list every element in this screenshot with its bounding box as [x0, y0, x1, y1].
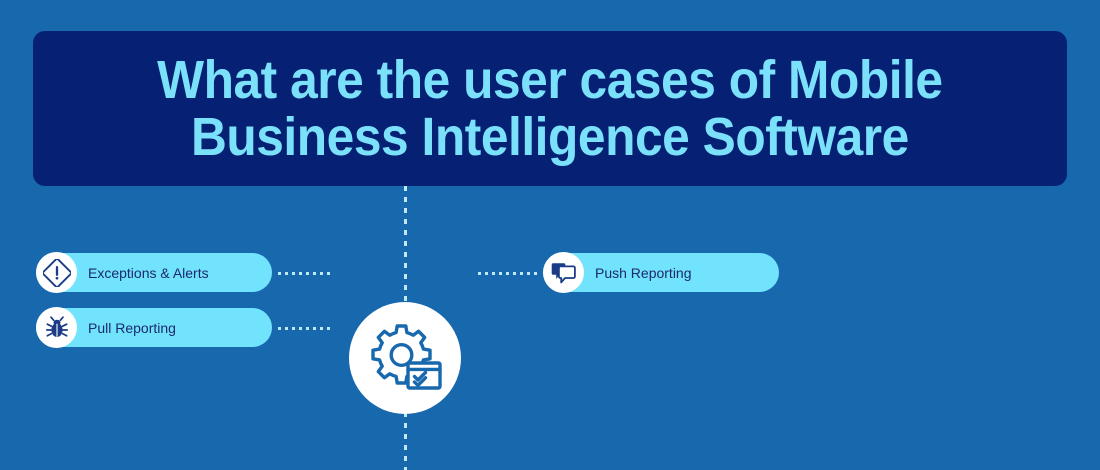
spine-connector-bottom: [404, 412, 407, 470]
connector-dotted: [278, 327, 334, 330]
node-push-reporting[interactable]: Push Reporting: [0, 253, 800, 292]
bug-icon: [44, 315, 70, 341]
header-banner: What are the user cases of Mobile Busine…: [33, 31, 1067, 186]
chat-bubbles-icon: [550, 259, 577, 286]
node-pull-reporting[interactable]: Pull Reporting: [0, 308, 400, 347]
infographic-canvas: What are the user cases of Mobile Busine…: [0, 0, 1100, 470]
connector-dotted: [478, 272, 538, 275]
node-icon-wrapper: [36, 307, 77, 348]
node-label: Push Reporting: [595, 266, 692, 280]
node-label: Pull Reporting: [88, 321, 176, 335]
page-title: What are the user cases of Mobile Busine…: [139, 52, 961, 164]
node-icon-wrapper: [543, 252, 584, 293]
